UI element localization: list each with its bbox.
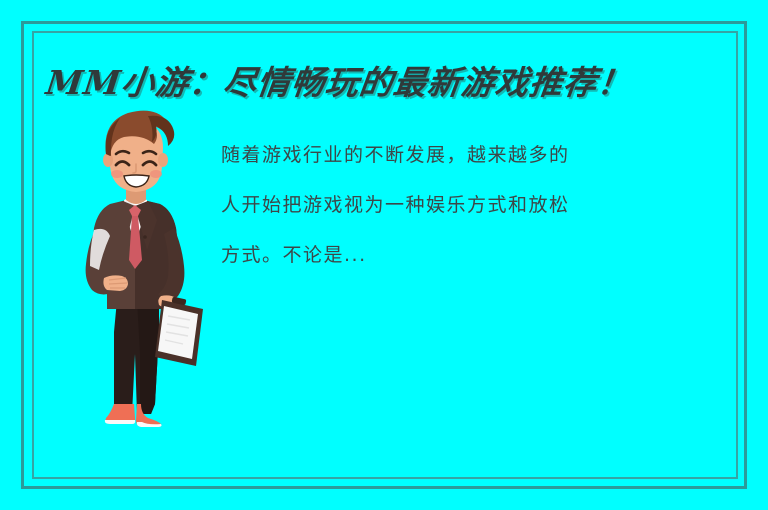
body-line-2: 人开始把游戏视为一种娱乐方式和放松 xyxy=(221,180,726,230)
poster-canvas: MM小游：尽情畅玩的最新游戏推荐！ 随着游戏行业的不断发展，越来越多的 人开始把… xyxy=(0,0,768,510)
left-ear xyxy=(103,153,113,167)
left-shoe-sole xyxy=(105,420,135,424)
body-copy: 随着游戏行业的不断发展，越来越多的 人开始把游戏视为一种娱乐方式和放松 方式。不… xyxy=(221,130,726,280)
businessman-illustration xyxy=(62,104,214,436)
right-ear xyxy=(158,153,168,167)
body-line-1: 随着游戏行业的不断发展，越来越多的 xyxy=(221,130,726,180)
clipboard-paper xyxy=(158,306,198,359)
body-line-3: 方式。不论是... xyxy=(221,230,726,280)
jacket-button xyxy=(143,235,147,239)
page-title: MM小游：尽情畅玩的最新游戏推荐！ xyxy=(43,60,729,110)
left-cheek xyxy=(111,170,123,178)
right-cheek xyxy=(150,170,162,178)
clipboard xyxy=(155,297,203,366)
